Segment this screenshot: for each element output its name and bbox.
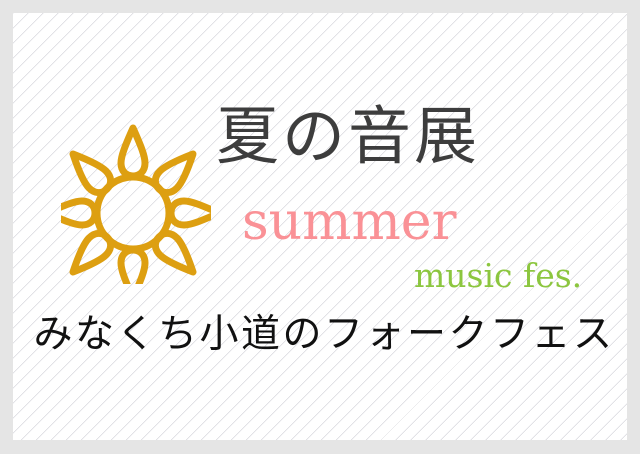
sun-icon bbox=[61, 116, 211, 284]
subtitle-summer: summer bbox=[242, 196, 456, 248]
page-title: 夏の音展 bbox=[216, 105, 480, 168]
subtitle-music-fes: music fes. bbox=[414, 259, 582, 292]
tagline: みなくち小道のフォークフェス bbox=[21, 311, 627, 360]
poster-root: 夏の音展 summer music fes. みなくち小道のフォークフェス bbox=[0, 0, 640, 454]
poster-canvas: 夏の音展 summer music fes. みなくち小道のフォークフェス bbox=[13, 13, 627, 440]
